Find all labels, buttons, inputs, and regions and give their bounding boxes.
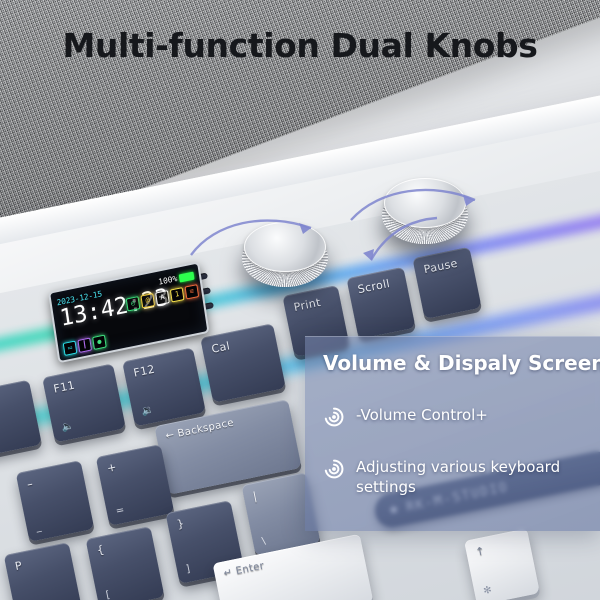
spiral-knob-icon — [323, 458, 345, 480]
callout-heading: Volume & Dispaly Screen — [323, 351, 600, 375]
key-arrow-up-label: ↑ — [474, 544, 486, 559]
key-scroll[interactable]: Scroll — [346, 267, 415, 339]
page-title: Multi-function Dual Knobs — [0, 26, 600, 65]
key-f11-sublabel: 🔈 — [61, 421, 76, 434]
key-f12-sublabel: 🔉 — [141, 405, 156, 418]
caps-a-icon: A — [155, 290, 170, 305]
key-arrow-up-sublabel: ✻ — [482, 585, 493, 598]
key-print-label: Print — [293, 296, 322, 314]
callout-bullet-volume-text: -Volume Control+ — [356, 405, 488, 425]
clock-icon: ◴ — [126, 296, 141, 311]
callout-bullet-volume: -Volume Control+ — [323, 405, 488, 428]
product-marketing-image: 10F11🔈F12🔉Cal← Backspace–_+=P{[}]|\↵ Ent… — [0, 0, 600, 600]
key-bracket-right-sublabel: ] — [185, 564, 191, 576]
key-scroll-label: Scroll — [357, 277, 392, 296]
wifi-icon: ● — [92, 335, 107, 350]
key-backspace-label: ← Backspace — [165, 417, 235, 442]
monitor-icon: ▭ — [63, 341, 78, 356]
key-equal[interactable]: += — [96, 444, 175, 526]
key-f11[interactable]: F11🔈 — [42, 363, 126, 442]
volume-knob-left-cap[interactable] — [244, 222, 326, 272]
key-pause[interactable]: Pause — [412, 247, 481, 319]
key-arrow-up[interactable]: ↑✻ — [464, 528, 540, 600]
feature-callout-panel: Volume & Dispaly Screen -Volume Control+… — [305, 336, 600, 531]
key-equal-sublabel: = — [115, 505, 126, 518]
battery-full-icon — [179, 271, 195, 282]
usb-icon: ┃ — [77, 338, 92, 353]
key-p-label: P — [14, 559, 23, 573]
key-pause-label: Pause — [423, 257, 459, 277]
key-minus[interactable]: –_ — [16, 460, 95, 542]
at-icon: @ — [140, 293, 155, 308]
key-minus-label: – — [26, 477, 34, 491]
lcd-icon-row-bottom: ▭┃● — [63, 335, 107, 356]
key-bracket-left-sublabel: [ — [105, 590, 111, 600]
spiral-knob-icon — [323, 406, 345, 428]
key-backslash-sublabel: \ — [261, 536, 267, 548]
key-f12-label: F12 — [132, 363, 156, 380]
callout-bullet-settings-text: Adjusting various keyboard settings — [356, 457, 581, 498]
key-backslash-label: | — [252, 490, 259, 504]
key-minus-sublabel: _ — [35, 521, 42, 533]
callout-bullet-settings: Adjusting various keyboard settings — [323, 457, 581, 498]
key-f11-label: F11 — [52, 379, 76, 396]
menu-icon: ≡ — [185, 284, 200, 299]
key-bracket-right-label: } — [176, 517, 186, 531]
key-cal-label: Cal — [210, 339, 231, 355]
key-enter-label: ↵ Enter — [223, 561, 266, 580]
num-1-icon: 1 — [170, 287, 185, 302]
key-bracket-left-label: { — [96, 543, 106, 557]
key-f12[interactable]: F12🔉 — [122, 347, 206, 426]
volume-knob-right-cap[interactable] — [384, 178, 466, 228]
key-equal-label: + — [106, 460, 118, 475]
